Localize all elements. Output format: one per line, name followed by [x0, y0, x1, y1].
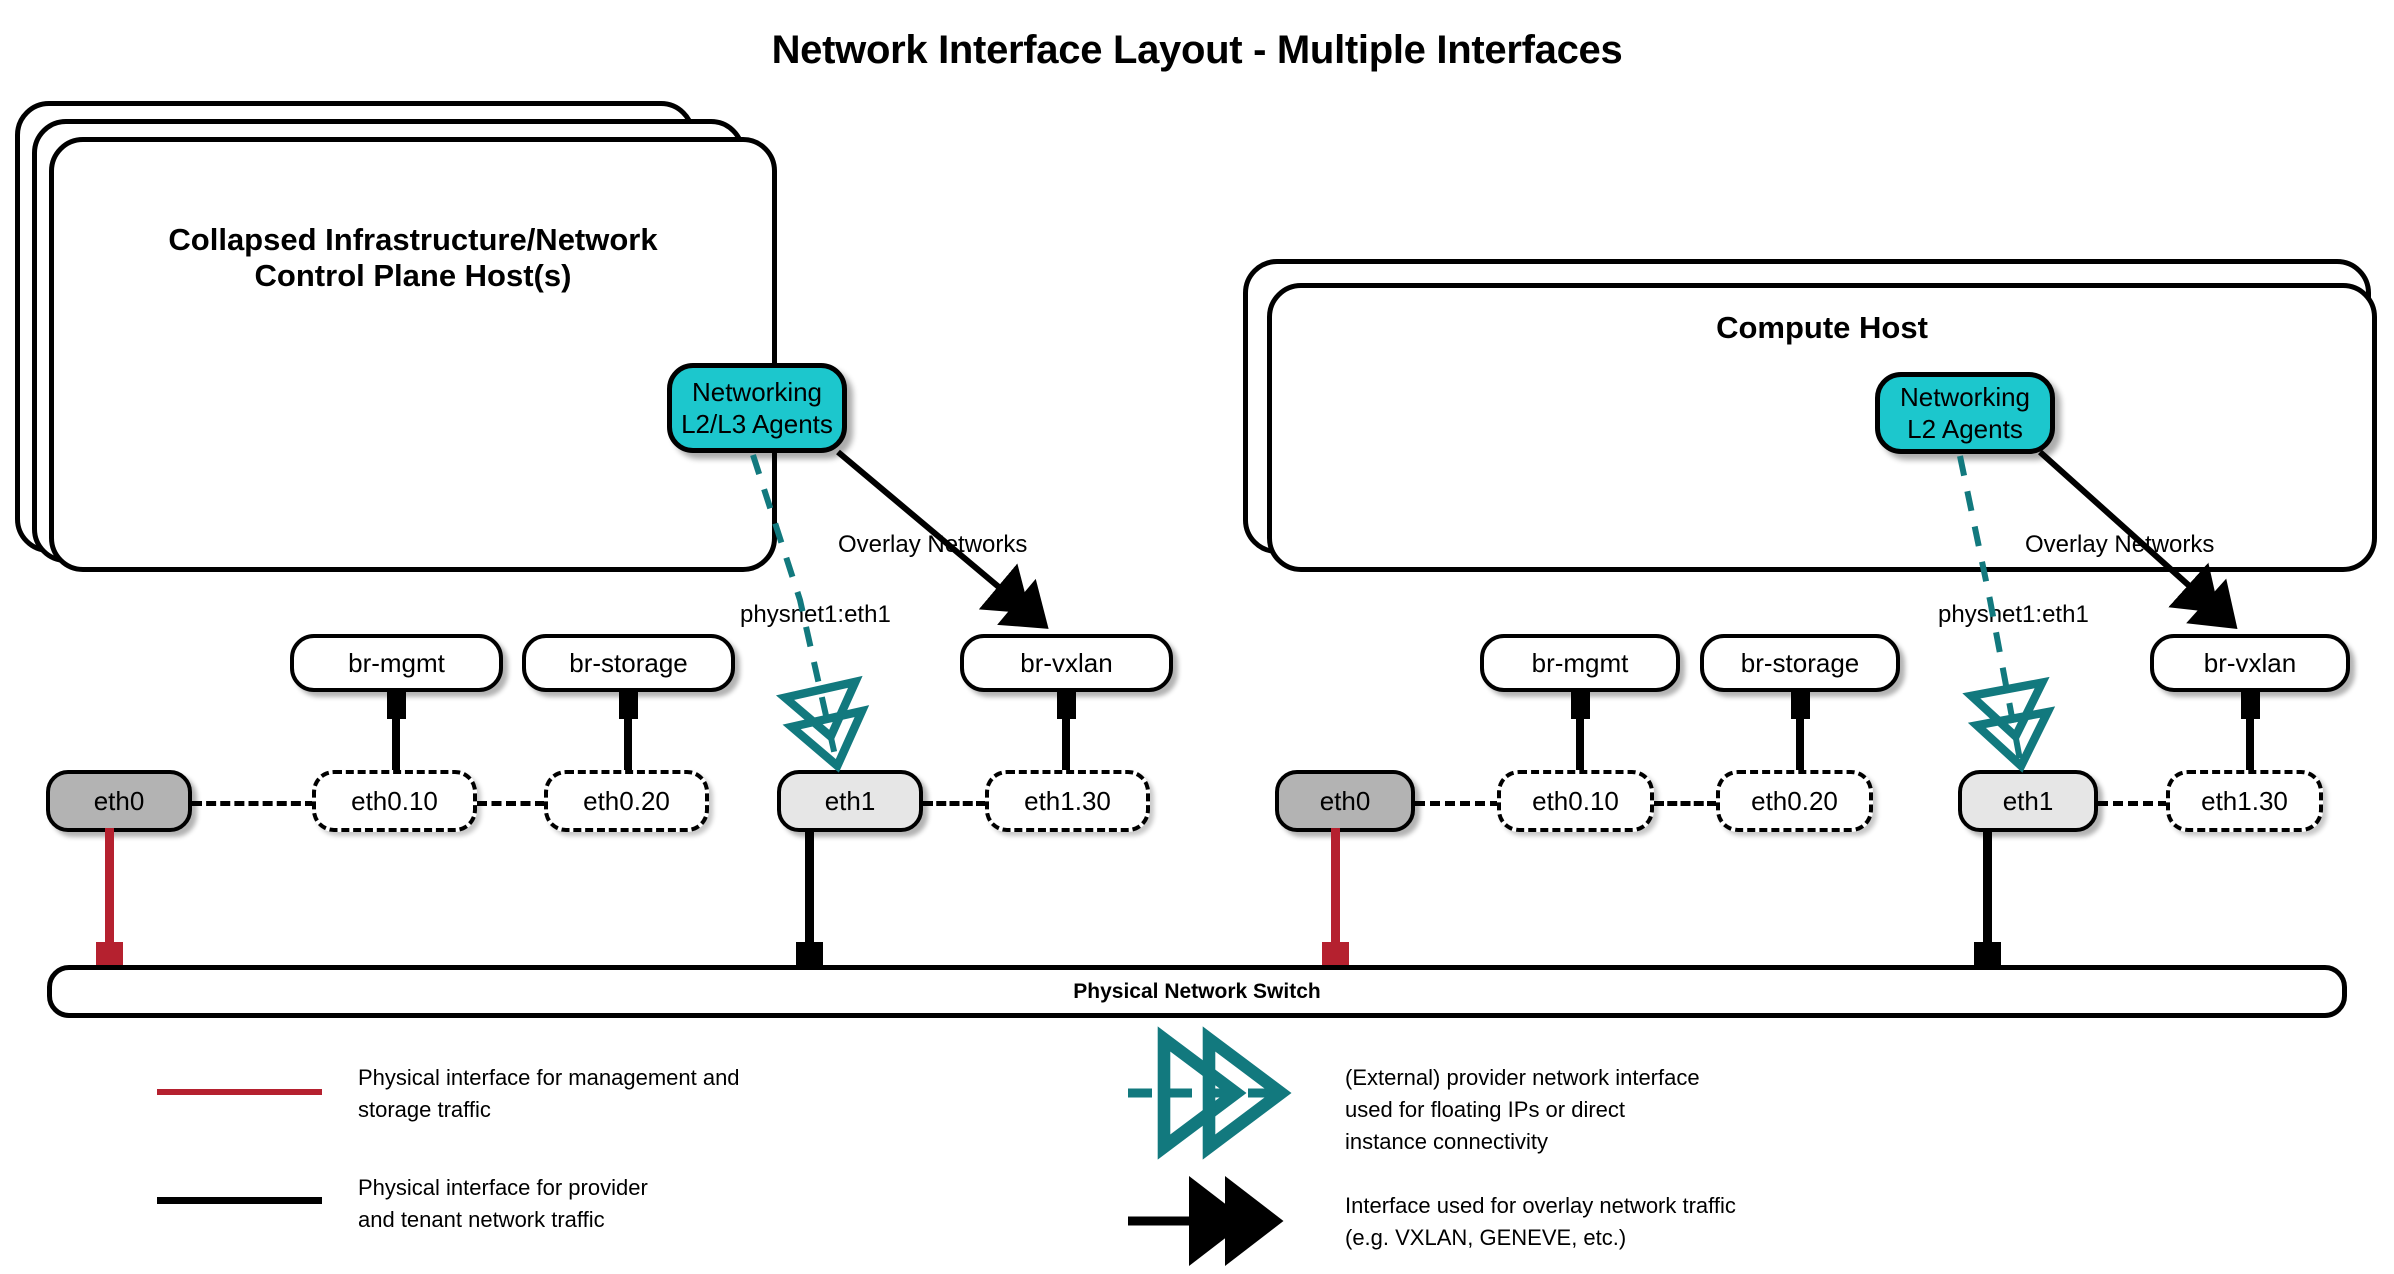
- legend-label-overlay: Interface used for overlay network traff…: [1345, 1190, 1905, 1254]
- host-title-compute: Compute Host: [1267, 310, 2377, 346]
- link-eth0-eth0-10: [192, 801, 315, 806]
- host-title-control-plane: Collapsed Infrastructure/Network Control…: [49, 222, 777, 293]
- legend-label-provider-tenant: Physical interface for provider and tena…: [358, 1172, 838, 1236]
- node-interface-eth1-compute[interactable]: eth1: [1958, 770, 2098, 832]
- physical-network-switch[interactable]: Physical Network Switch: [47, 965, 2347, 1018]
- node-bridge-br-mgmt-compute[interactable]: br-mgmt: [1480, 634, 1680, 692]
- edge-label-overlay-compute: Overlay Networks: [2025, 531, 2214, 559]
- node-bridge-br-vxlan-control-plane[interactable]: br-vxlan: [960, 634, 1173, 692]
- link-eth1-eth1-30-compute: [2098, 801, 2168, 806]
- link-eth1-eth1-30: [923, 801, 986, 806]
- legend-label-mgmt-storage: Physical interface for management and st…: [358, 1062, 838, 1126]
- link-br-vxlan-eth1-30: [1062, 715, 1070, 777]
- uplink-eth0-to-switch-control-plane: [105, 828, 114, 953]
- link-br-mgmt-eth0-10-compute: [1576, 715, 1584, 777]
- link-eth0-10-eth0-20-compute: [1654, 801, 1717, 806]
- uplink-eth1-to-switch-control-plane: [805, 828, 814, 953]
- link-br-vxlan-eth1-30-compute: [2246, 715, 2254, 777]
- edge-label-overlay-control-plane: Overlay Networks: [838, 531, 1027, 559]
- uplink-eth0-to-switch-compute: [1331, 828, 1340, 953]
- link-eth0-10-eth0-20: [477, 801, 545, 806]
- legend-swatch-black-line: [157, 1197, 322, 1204]
- link-br-storage-eth0-20: [624, 715, 632, 777]
- agents-line-1: Networking: [692, 376, 822, 409]
- node-interface-eth0-20-control-plane[interactable]: eth0.20: [544, 770, 709, 832]
- node-bridge-br-mgmt-control-plane[interactable]: br-mgmt: [290, 634, 503, 692]
- edge-label-physnet-control-plane: physnet1:eth1: [740, 601, 891, 629]
- page-title: Network Interface Layout - Multiple Inte…: [0, 28, 2394, 73]
- agents-line-2-compute: L2 Agents: [1907, 413, 2023, 446]
- legend-label-external-provider: (External) provider network interface us…: [1345, 1062, 1865, 1158]
- link-br-mgmt-eth0-10: [392, 715, 400, 777]
- agents-line-2: L2/L3 Agents: [681, 408, 833, 441]
- node-interface-eth0-10-compute[interactable]: eth0.10: [1497, 770, 1654, 832]
- edge-label-physnet-compute: physnet1:eth1: [1938, 601, 2089, 629]
- physical-network-switch-label: Physical Network Switch: [1073, 980, 1320, 1004]
- uplink-eth1-to-switch-compute: [1983, 828, 1992, 953]
- node-interface-eth0-control-plane[interactable]: eth0: [46, 770, 192, 832]
- agents-line-1-compute: Networking: [1900, 381, 2030, 414]
- node-interface-eth1-control-plane[interactable]: eth1: [777, 770, 923, 832]
- link-br-storage-eth0-20-compute: [1796, 715, 1804, 777]
- node-interface-eth0-compute[interactable]: eth0: [1275, 770, 1415, 832]
- node-bridge-br-storage-compute[interactable]: br-storage: [1700, 634, 1900, 692]
- node-bridge-br-vxlan-compute[interactable]: br-vxlan: [2150, 634, 2350, 692]
- diagram-canvas: Network Interface Layout - Multiple Inte…: [0, 0, 2394, 1274]
- node-interface-eth1-30-control-plane[interactable]: eth1.30: [985, 770, 1150, 832]
- node-networking-agents-compute[interactable]: Networking L2 Agents: [1875, 372, 2055, 454]
- node-interface-eth0-10-control-plane[interactable]: eth0.10: [312, 770, 477, 832]
- legend-swatch-red-line: [157, 1089, 322, 1095]
- link-eth0-eth0-10-compute: [1415, 801, 1500, 806]
- node-bridge-br-storage-control-plane[interactable]: br-storage: [522, 634, 735, 692]
- node-interface-eth1-30-compute[interactable]: eth1.30: [2166, 770, 2323, 832]
- host-stack-layer-1: [49, 137, 777, 572]
- node-interface-eth0-20-compute[interactable]: eth0.20: [1716, 770, 1873, 832]
- node-networking-agents-control-plane[interactable]: Networking L2/L3 Agents: [667, 363, 847, 453]
